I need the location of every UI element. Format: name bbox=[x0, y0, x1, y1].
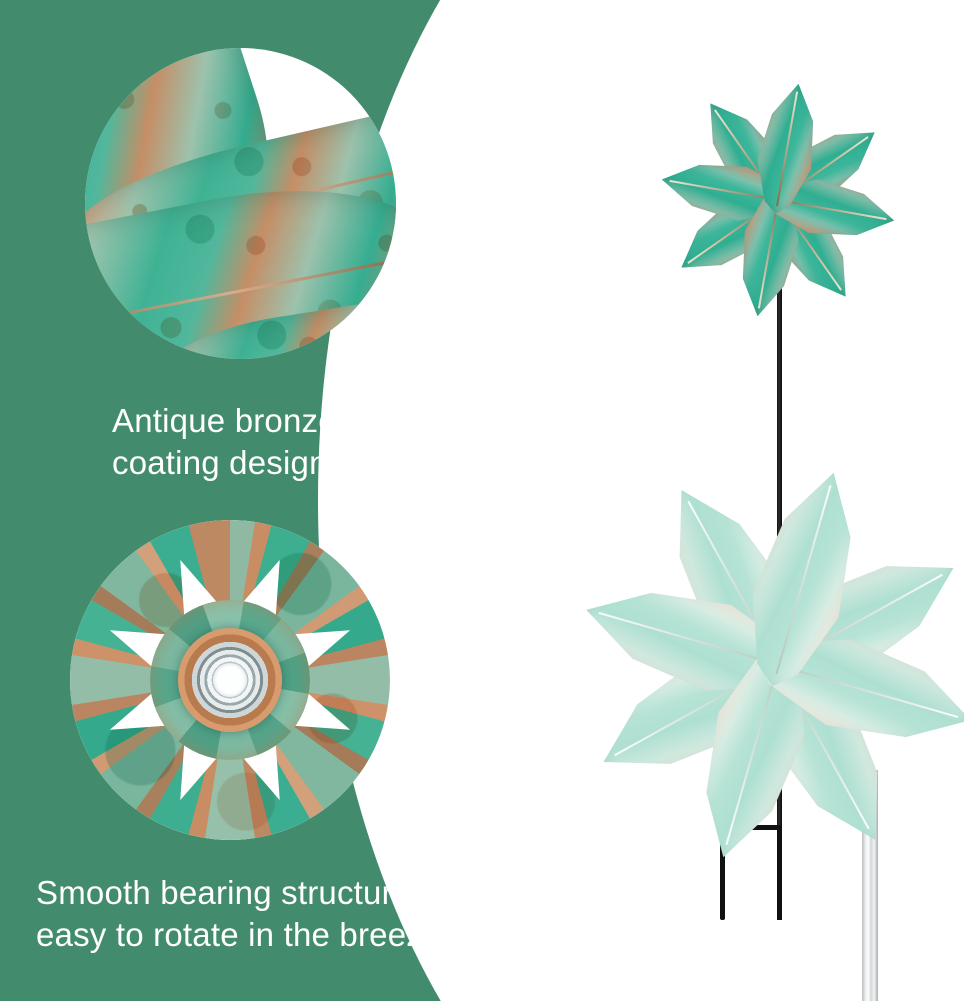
bearing-core bbox=[213, 663, 247, 697]
detail-circle-bearing bbox=[70, 520, 390, 840]
ball-bearing bbox=[178, 628, 282, 732]
caption-smooth-bearing: Smooth bearing structure, easy to rotate… bbox=[36, 872, 451, 956]
product-photo bbox=[600, 0, 964, 1001]
caption-antique-bronze: Antique bronze coating design bbox=[112, 400, 337, 484]
product-feature-panel: Antique bronze coating design Smooth bea… bbox=[0, 0, 964, 1001]
detail-circle-blades bbox=[85, 48, 396, 359]
bearing-closeup-image bbox=[70, 520, 390, 840]
blades-closeup-image bbox=[85, 48, 396, 359]
